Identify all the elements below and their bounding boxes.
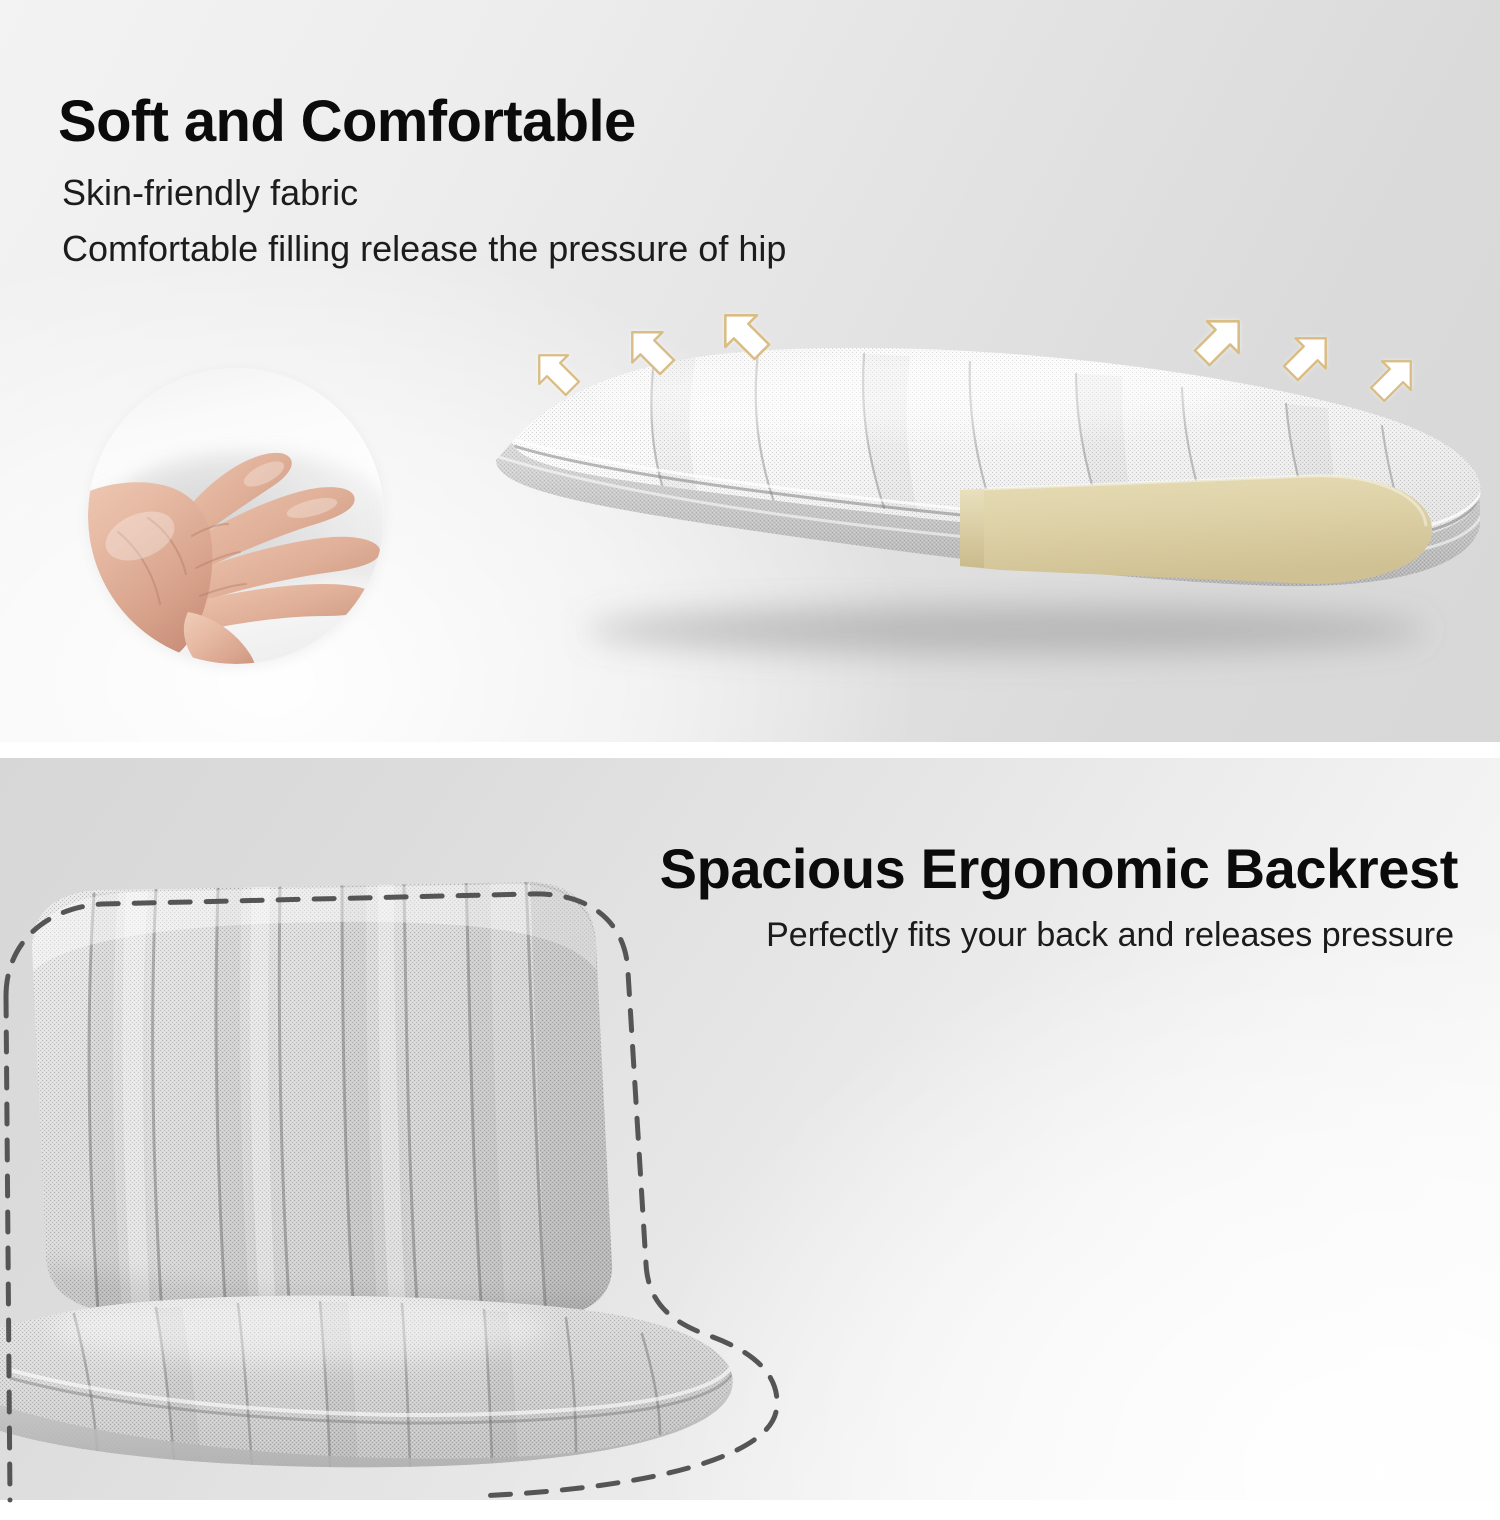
seat-cushion-illustration <box>440 300 1500 700</box>
hand-pressing-foam-inset <box>88 368 384 664</box>
top-panel-subline-2: Comfortable filling release the pressure… <box>62 228 786 270</box>
hand-icon <box>88 368 384 664</box>
cushion-drop-shadow <box>586 606 1426 654</box>
foam-cutaway <box>960 476 1432 584</box>
top-panel-subline-1: Skin-friendly fabric <box>62 172 358 214</box>
panel-soft-and-comfortable: Soft and Comfortable Skin-friendly fabri… <box>0 0 1500 742</box>
panel-divider <box>0 742 1500 758</box>
foam-cut-edge <box>960 489 984 568</box>
chair-backrest-illustration <box>0 860 1030 1520</box>
top-panel-heading: Soft and Comfortable <box>58 88 636 155</box>
